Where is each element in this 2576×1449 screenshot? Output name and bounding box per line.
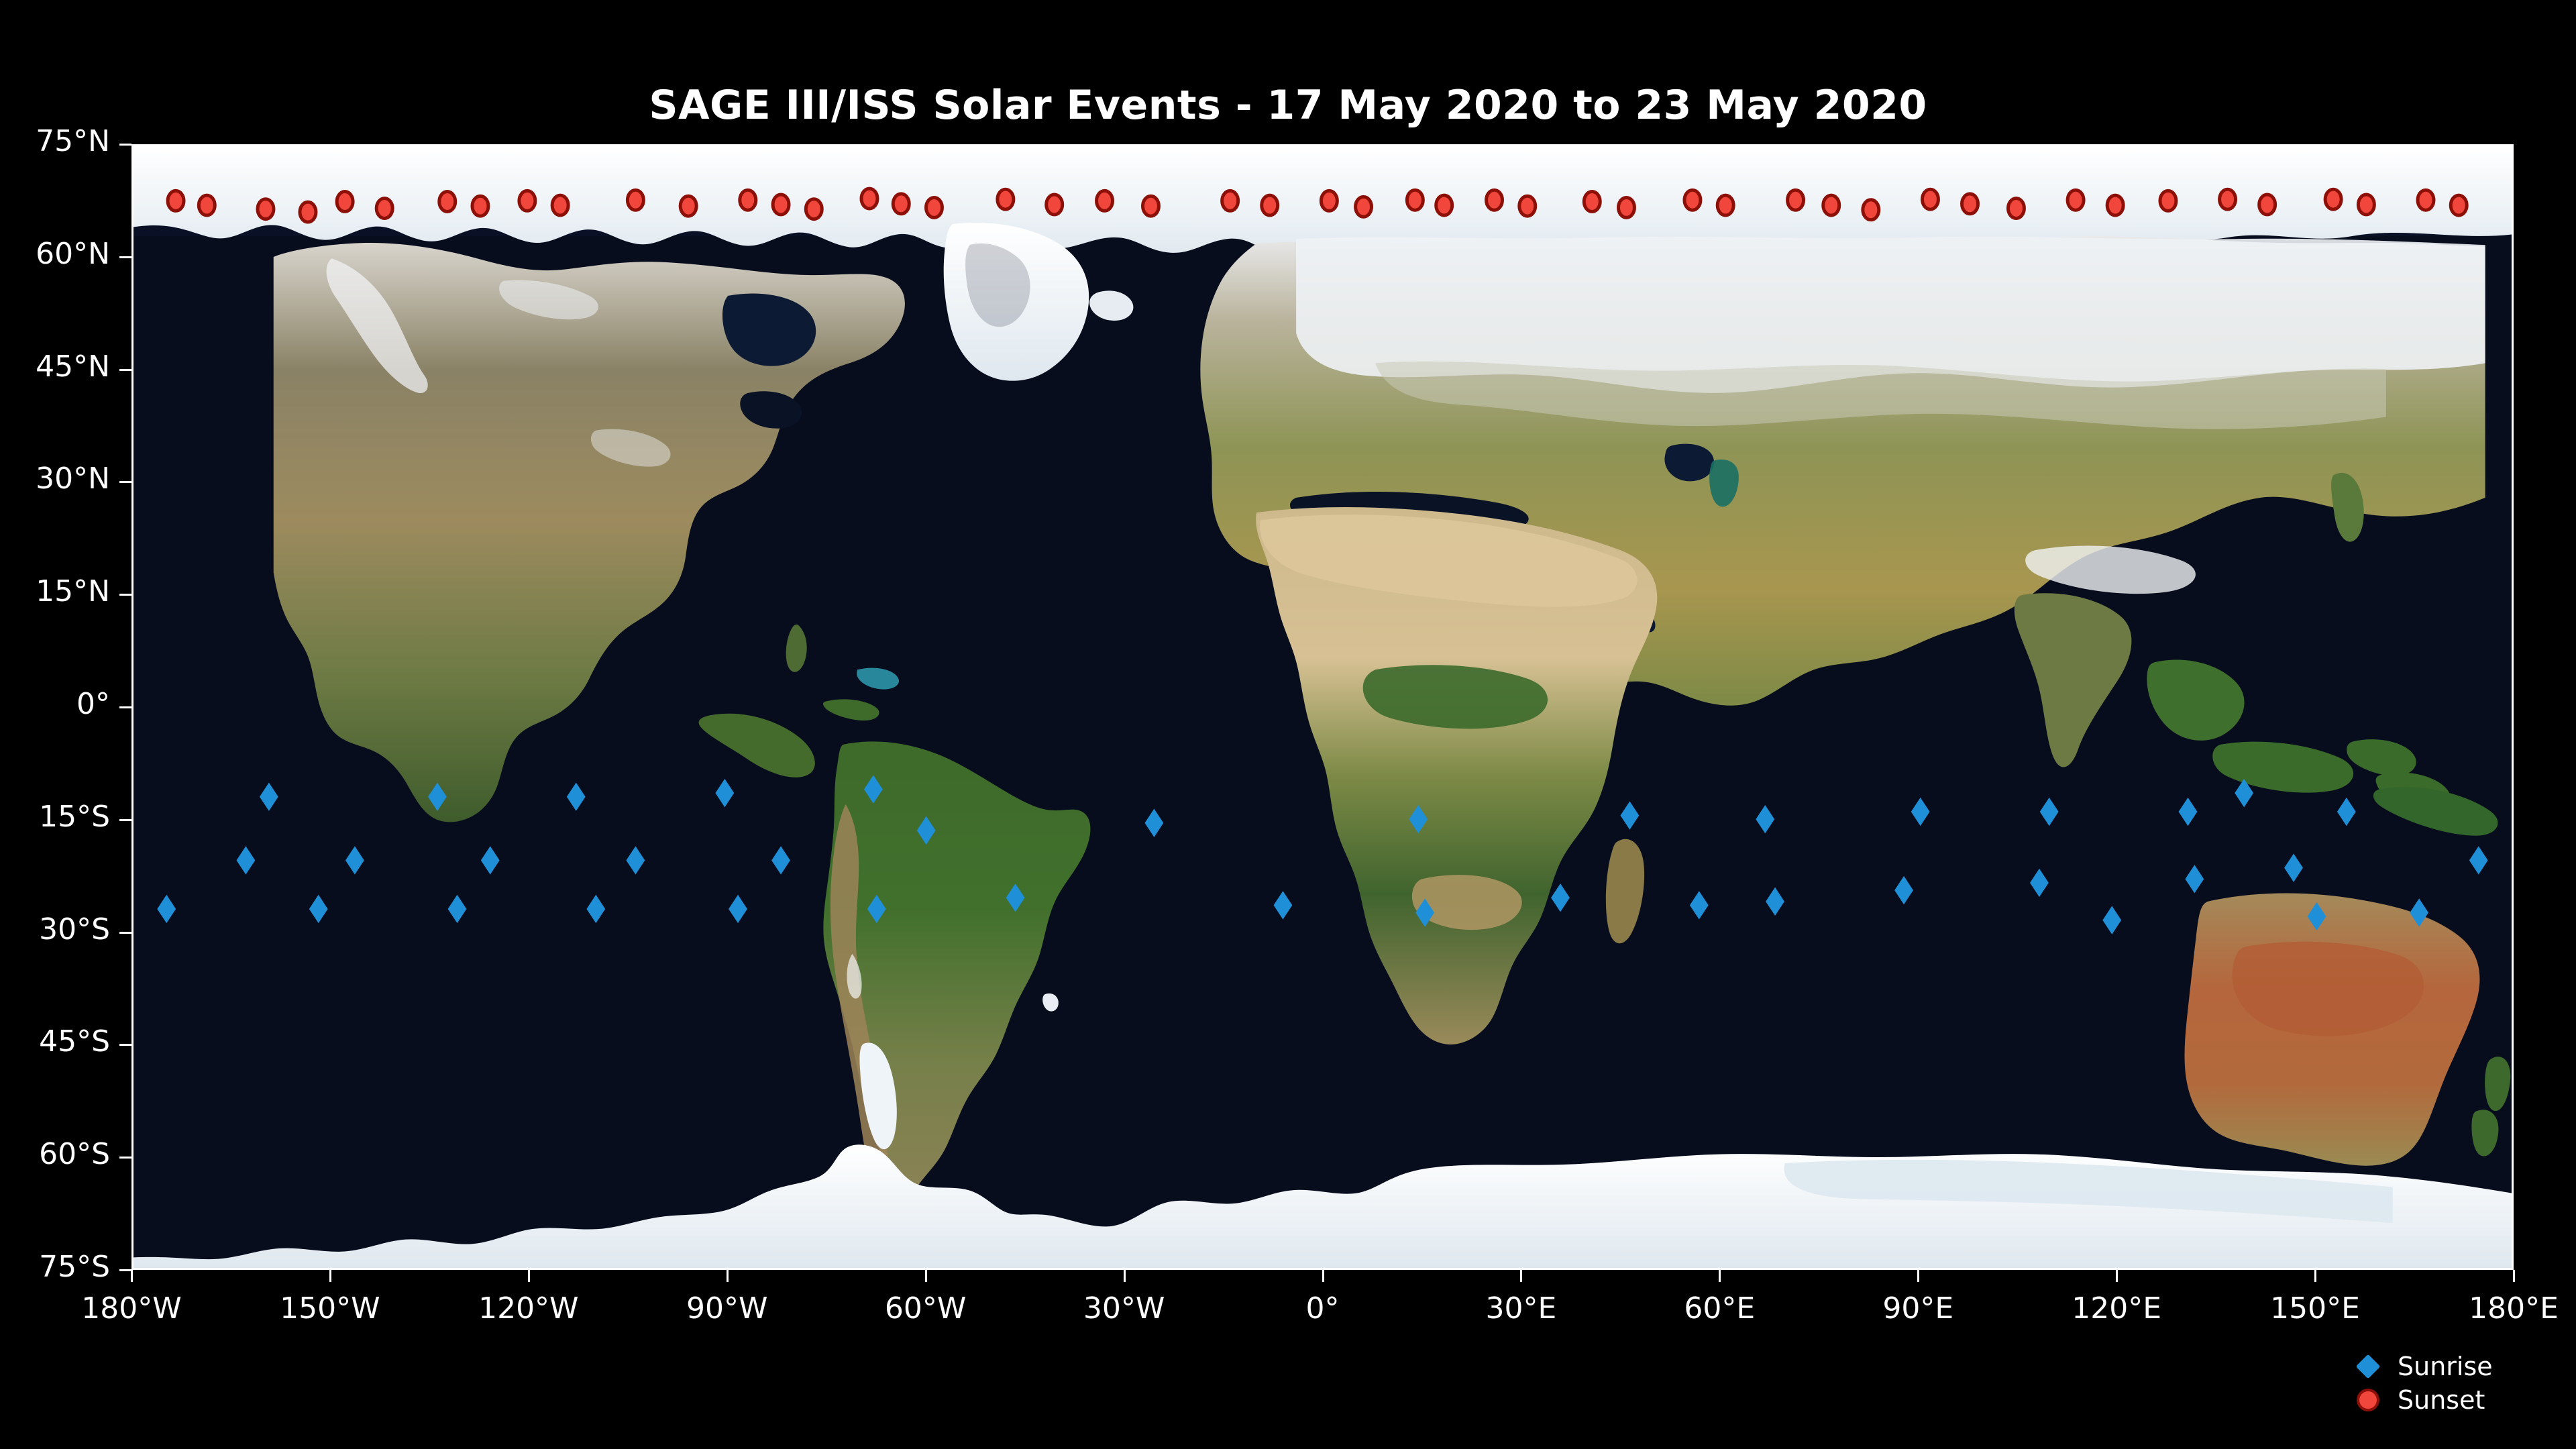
sunrise-marker[interactable] [1911, 798, 1930, 826]
x-tick-mark [727, 1270, 729, 1282]
sunset-marker[interactable] [627, 190, 643, 210]
sunset-marker[interactable] [1097, 191, 1113, 211]
x-tick-mark [329, 1270, 331, 1282]
x-tick-label: 180°E [2469, 1291, 2559, 1326]
sunrise-marker[interactable] [867, 895, 886, 923]
sunrise-marker[interactable] [1274, 891, 1293, 919]
y-tick-label: 60°S [0, 1137, 110, 1171]
sunrise-marker[interactable] [1756, 805, 1774, 833]
sunset-marker[interactable] [1487, 190, 1503, 210]
sunset-marker[interactable] [926, 197, 943, 217]
sunset-marker[interactable] [893, 194, 909, 214]
sunset-marker[interactable] [1863, 200, 1879, 220]
x-tick-mark [2513, 1270, 2515, 1282]
sunset-marker[interactable] [439, 192, 455, 212]
sunset-marker[interactable] [519, 191, 535, 211]
x-tick-mark [2116, 1270, 2118, 1282]
sunrise-marker[interactable] [917, 816, 936, 845]
sunrise-marker[interactable] [567, 783, 586, 811]
sunset-marker[interactable] [1684, 190, 1701, 210]
sunrise-marker[interactable] [1894, 876, 1913, 904]
sunset-marker[interactable] [300, 202, 316, 222]
legend-label-sunset: Sunset [2398, 1385, 2485, 1415]
sunset-marker[interactable] [376, 199, 392, 219]
x-tick-label: 60°W [885, 1291, 967, 1326]
map-plot-area [131, 144, 2514, 1270]
sunrise-marker[interactable] [2410, 898, 2428, 926]
x-tick-label: 150°W [280, 1291, 380, 1326]
sunset-marker[interactable] [1584, 192, 1600, 212]
sunrise-marker[interactable] [2030, 869, 2049, 897]
y-tick-mark [119, 819, 131, 821]
sunrise-marker[interactable] [729, 895, 747, 923]
sunrise-marker[interactable] [428, 783, 447, 811]
sunset-marker[interactable] [2451, 195, 2467, 215]
x-tick-label: 0° [1306, 1291, 1340, 1326]
x-tick-mark [1719, 1270, 1721, 1282]
sunrise-marker[interactable] [448, 895, 467, 923]
sunrise-marker[interactable] [2469, 846, 2488, 874]
sunset-marker[interactable] [168, 191, 184, 211]
y-tick-label: 45°N [0, 350, 110, 384]
x-tick-mark [1322, 1270, 1324, 1282]
sunset-marker[interactable] [2220, 189, 2236, 209]
legend-item-sunset[interactable]: Sunset [2348, 1383, 2563, 1417]
y-tick-mark [119, 1269, 131, 1271]
y-tick-mark [119, 369, 131, 371]
sunset-marker[interactable] [2107, 195, 2123, 215]
sunrise-marker[interactable] [157, 895, 176, 923]
x-tick-label: 120°W [478, 1291, 579, 1326]
sunset-marker[interactable] [740, 190, 756, 210]
x-tick-label: 90°W [686, 1291, 768, 1326]
sunset-marker[interactable] [1519, 196, 1536, 216]
y-tick-mark [119, 256, 131, 258]
x-tick-mark [925, 1270, 927, 1282]
y-tick-label: 75°S [0, 1250, 110, 1284]
y-tick-label: 15°S [0, 800, 110, 834]
sunrise-marker[interactable] [1144, 809, 1163, 837]
sunset-circle-icon [2348, 1391, 2388, 1409]
sunset-marker[interactable] [1262, 195, 1278, 215]
sunset-marker[interactable] [806, 199, 822, 219]
sunrise-marker[interactable] [1409, 805, 1428, 833]
sunrise-marker[interactable] [2185, 865, 2204, 893]
y-tick-label: 0° [0, 687, 110, 721]
x-tick-label: 30°W [1083, 1291, 1165, 1326]
sunset-marker[interactable] [861, 189, 877, 209]
y-tick-mark [119, 594, 131, 596]
sunset-marker[interactable] [1618, 197, 1634, 217]
sunrise-marker[interactable] [1006, 883, 1025, 912]
sunrise-marker[interactable] [345, 846, 364, 874]
sunset-marker[interactable] [199, 195, 215, 215]
y-tick-label: 75°N [0, 124, 110, 158]
x-tick-mark [1124, 1270, 1126, 1282]
sunrise-marker[interactable] [864, 775, 883, 803]
sunrise-marker[interactable] [1415, 898, 1434, 926]
sunset-marker[interactable] [1717, 195, 1733, 215]
legend: Sunrise Sunset [2348, 1350, 2563, 1417]
x-tick-label: 120°E [2072, 1291, 2161, 1326]
y-tick-label: 60°N [0, 237, 110, 271]
sunset-marker[interactable] [552, 195, 568, 215]
sunrise-marker[interactable] [481, 846, 500, 874]
sunset-marker[interactable] [998, 189, 1014, 209]
x-tick-mark [131, 1270, 133, 1282]
event-markers-layer [133, 146, 2512, 1268]
y-tick-mark [119, 144, 131, 146]
sunset-marker[interactable] [2325, 189, 2341, 209]
sunset-marker[interactable] [1046, 195, 1063, 215]
sunrise-marker[interactable] [2040, 798, 2059, 826]
y-tick-mark [119, 706, 131, 708]
sunset-marker[interactable] [680, 196, 696, 216]
chart-title: SAGE III/ISS Solar Events - 17 May 2020 … [0, 82, 2576, 129]
sunset-marker[interactable] [472, 196, 488, 216]
sunset-marker[interactable] [2418, 190, 2434, 210]
y-tick-mark [119, 932, 131, 934]
sunset-marker[interactable] [773, 195, 789, 215]
sunset-marker[interactable] [2008, 199, 2024, 219]
sunrise-marker[interactable] [1766, 888, 1784, 916]
sunset-marker[interactable] [1222, 191, 1238, 211]
sunrise-marker[interactable] [586, 895, 605, 923]
sunset-marker[interactable] [1142, 196, 1159, 216]
x-tick-label: 30°E [1486, 1291, 1557, 1326]
sunset-marker[interactable] [2259, 195, 2275, 215]
sunrise-marker[interactable] [309, 895, 328, 923]
sunrise-marker[interactable] [2337, 798, 2356, 826]
y-tick-label: 30°S [0, 912, 110, 947]
x-tick-label: 60°E [1684, 1291, 1755, 1326]
x-tick-mark [1917, 1270, 1919, 1282]
sunrise-marker[interactable] [771, 846, 790, 874]
x-tick-label: 90°E [1882, 1291, 1953, 1326]
sunset-marker[interactable] [2068, 190, 2084, 210]
sunrise-marker[interactable] [715, 779, 734, 807]
sunrise-marker[interactable] [2179, 798, 2198, 826]
sunset-marker[interactable] [1436, 195, 1452, 215]
sunrise-marker[interactable] [2102, 906, 2121, 934]
x-tick-mark [1520, 1270, 1522, 1282]
sunset-marker[interactable] [2160, 191, 2176, 211]
sunrise-marker[interactable] [626, 846, 645, 874]
sunrise-marker[interactable] [1620, 801, 1639, 829]
sunset-marker[interactable] [1788, 190, 1804, 210]
sunrise-marker[interactable] [1551, 883, 1570, 912]
sunset-marker[interactable] [1407, 190, 1423, 210]
sunrise-marker[interactable] [260, 783, 278, 811]
sunset-marker[interactable] [1823, 195, 1839, 215]
sunrise-marker[interactable] [1690, 891, 1709, 919]
y-tick-label: 15°N [0, 574, 110, 608]
sunrise-marker[interactable] [2308, 902, 2326, 930]
y-tick-label: 45°S [0, 1024, 110, 1059]
legend-label-sunrise: Sunrise [2398, 1352, 2493, 1381]
y-tick-mark [119, 1044, 131, 1046]
sunset-marker[interactable] [1356, 197, 1372, 217]
sunset-marker[interactable] [258, 199, 274, 219]
sunset-marker[interactable] [1321, 191, 1337, 211]
sunrise-marker[interactable] [236, 846, 255, 874]
x-tick-label: 180°W [81, 1291, 182, 1326]
legend-item-sunrise[interactable]: Sunrise [2348, 1350, 2563, 1383]
y-tick-mark [119, 481, 131, 483]
y-tick-mark [119, 1157, 131, 1159]
x-tick-mark [528, 1270, 530, 1282]
sunset-marker[interactable] [2358, 195, 2374, 215]
y-tick-label: 30°N [0, 462, 110, 496]
sunset-marker[interactable] [1922, 189, 1938, 209]
x-tick-label: 150°E [2270, 1291, 2360, 1326]
x-tick-mark [2314, 1270, 2316, 1282]
sunrise-marker[interactable] [2284, 853, 2303, 881]
sunrise-marker[interactable] [2235, 779, 2253, 807]
sunrise-diamond-icon [2348, 1358, 2388, 1375]
figure-root: SAGE III/ISS Solar Events - 17 May 2020 … [0, 0, 2576, 1449]
sunset-marker[interactable] [337, 192, 353, 212]
sunset-marker[interactable] [1962, 194, 1978, 214]
